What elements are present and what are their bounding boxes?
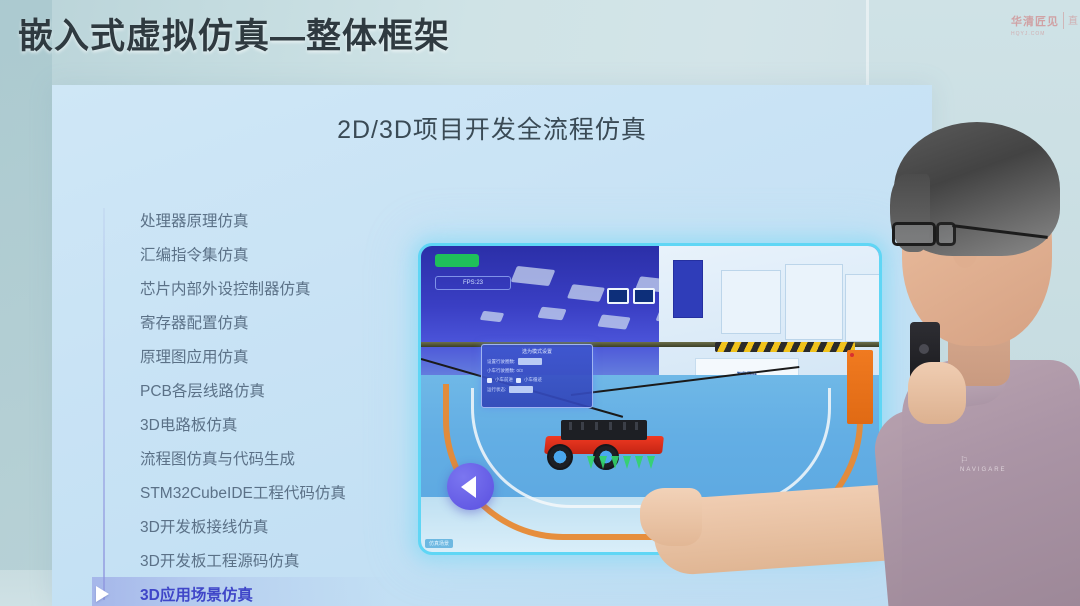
presenter-holding-hand [908, 362, 966, 424]
sim-rack-1 [721, 270, 781, 334]
dialog-laps-input[interactable] [518, 358, 542, 365]
watermark-sub: HQYJ.COM [1011, 31, 1059, 37]
car-component-deck [561, 420, 647, 440]
car-sensor-array [587, 456, 655, 469]
step-marker-icon [96, 586, 109, 602]
dialog-row-checks[interactable]: 小车前进 小车循迹 [487, 377, 587, 383]
step-label: PCB各层线路仿真 [140, 379, 265, 401]
slide-title: 2D/3D项目开发全流程仿真 [52, 110, 932, 146]
dialog-row-progress: 小车行驶圈数: 0/3 [487, 368, 587, 374]
prev-slide-button[interactable] [447, 463, 494, 510]
step-item-1[interactable]: 处理器原理仿真 [92, 203, 392, 237]
sim-monitor-2 [633, 288, 655, 304]
step-label: 寄存器配置仿真 [140, 311, 249, 333]
watermark-brand: 华清匠见 [1011, 16, 1059, 28]
channel-watermark: 华清匠见 HQYJ.COM 直 [1011, 12, 1078, 37]
step-label: 3D应用场景仿真 [140, 583, 253, 605]
sim-robot-car[interactable] [539, 416, 669, 470]
page-title: 嵌入式虚拟仿真—整体框架 [18, 8, 450, 59]
dialog-check2-label: 小车循迹 [524, 377, 542, 383]
sim-status-badge [435, 254, 479, 267]
sim-rack-2 [785, 264, 843, 340]
step-item-11[interactable]: 3D开发板工程源码仿真 [92, 543, 392, 577]
step-item-2[interactable]: 汇编指令集仿真 [92, 237, 392, 271]
step-item-12-active[interactable]: 3D应用场景仿真 [92, 577, 392, 606]
car-wheel-front [547, 444, 573, 470]
sim-settings-dialog[interactable]: 选为模式设置 设置行驶圈数: 小车行驶圈数: 0/3 小车前进 小车循迹 运行状… [481, 344, 593, 408]
presenter-shirt-logo: ⚐ NAVIGARE [960, 455, 1007, 473]
sim-rack-dark [673, 260, 703, 318]
shirt-logo-text: NAVIGARE [960, 467, 1007, 473]
step-item-3[interactable]: 芯片内部外设控制器仿真 [92, 271, 392, 305]
chevron-left-icon [461, 476, 476, 498]
step-label: 3D开发板接线仿真 [140, 515, 268, 537]
watermark-divider [1063, 12, 1064, 29]
dialog-progress-label: 小车行驶圈数: 0/3 [487, 368, 523, 374]
sim-hazard-stripe [715, 342, 855, 352]
dialog-laps-label: 设置行驶圈数: [487, 359, 515, 365]
wall-panel-left [0, 0, 52, 606]
dialog-checkbox-forward[interactable] [487, 378, 492, 383]
dialog-check1-label: 小车前进 [495, 377, 513, 383]
step-label: 芯片内部外设控制器仿真 [140, 277, 311, 299]
dialog-state-select[interactable] [509, 386, 533, 393]
presenter-person: ⚐ NAVIGARE [840, 110, 1080, 606]
step-label: 3D开发板工程源码仿真 [140, 549, 299, 571]
sim-corner-tag: 仿真场景 [425, 539, 453, 548]
dialog-state-label: 运行状态: [487, 387, 506, 393]
step-label: 流程图仿真与代码生成 [140, 447, 295, 469]
simulation-step-list: 处理器原理仿真 汇编指令集仿真 芯片内部外设控制器仿真 寄存器配置仿真 原理图应… [92, 203, 392, 606]
step-label: STM32CubeIDE工程代码仿真 [140, 481, 346, 503]
dialog-title: 选为模式设置 [487, 348, 587, 355]
step-item-8[interactable]: 流程图仿真与代码生成 [92, 441, 392, 475]
shirt-emblem-icon: ⚐ [960, 455, 1007, 466]
dialog-checkbox-tracking[interactable] [516, 378, 521, 383]
presenter-pointing-hand [640, 488, 702, 546]
step-item-7[interactable]: 3D电路板仿真 [92, 407, 392, 441]
watermark-tail: 直 [1068, 12, 1078, 27]
dialog-row-laps[interactable]: 设置行驶圈数: [487, 358, 587, 365]
presenter-glasses-icon [892, 222, 996, 248]
sim-fps-readout: FPS:23 [435, 276, 511, 290]
sim-monitor-1 [607, 288, 629, 304]
step-label: 3D电路板仿真 [140, 413, 237, 435]
step-label: 原理图应用仿真 [140, 345, 249, 367]
glasses-lens-left [892, 222, 936, 246]
step-item-4[interactable]: 寄存器配置仿真 [92, 305, 392, 339]
clicker-button-icon[interactable] [919, 344, 929, 354]
step-label: 汇编指令集仿真 [140, 243, 249, 265]
step-item-10[interactable]: 3D开发板接线仿真 [92, 509, 392, 543]
step-item-5[interactable]: 原理图应用仿真 [92, 339, 392, 373]
dialog-row-state[interactable]: 运行状态: [487, 386, 587, 393]
step-item-6[interactable]: PCB各层线路仿真 [92, 373, 392, 407]
step-item-9[interactable]: STM32CubeIDE工程代码仿真 [92, 475, 392, 509]
step-label: 处理器原理仿真 [140, 209, 249, 231]
